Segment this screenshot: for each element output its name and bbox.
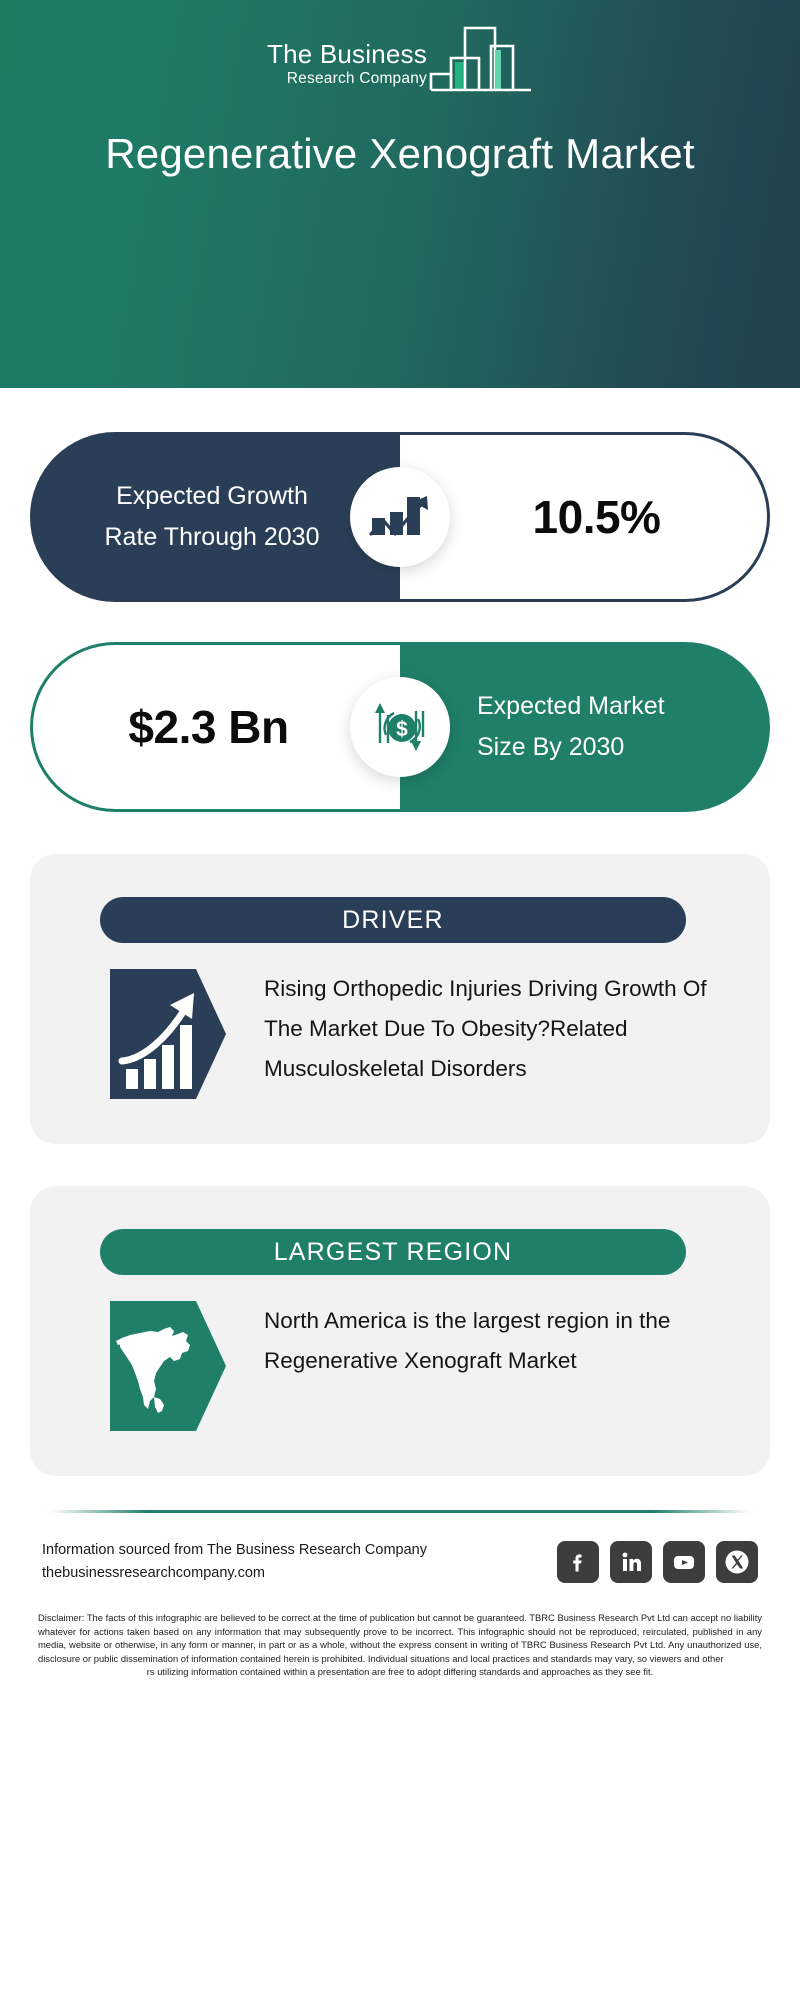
stat-card-label-side: Expected Market Size By 2030 [400, 642, 770, 812]
largest-region-pill-label: LARGEST REGION [274, 1238, 513, 1267]
disclaimer-body: Disclaimer: The facts of this infographi… [38, 1612, 762, 1664]
stat-card-market-size: $2.3 Bn Expected Market Size By 2030 $ [30, 642, 770, 812]
stat-value-market-size: $2.3 Bn [114, 699, 304, 755]
stat-value-growth-rate: 10.5% [533, 490, 661, 544]
x-twitter-icon[interactable] [716, 1541, 758, 1583]
social-links [557, 1541, 758, 1583]
disclaimer-text: Disclaimer: The facts of this infographi… [38, 1611, 762, 1679]
driver-pill: DRIVER [100, 897, 686, 943]
largest-region-text: North America is the largest region in t… [264, 1301, 720, 1381]
stat-label-growth-rate: Expected Growth Rate Through 2030 [87, 476, 337, 558]
dollar-cycle-icon: $ [350, 677, 450, 777]
footer-divider [50, 1510, 750, 1513]
linkedin-icon[interactable] [610, 1541, 652, 1583]
source-line-2[interactable]: thebusinessresearchcompany.com [42, 1562, 427, 1585]
source-info: Information sourced from The Business Re… [42, 1539, 427, 1585]
source-line-1: Information sourced from The Business Re… [42, 1539, 427, 1562]
driver-text: Rising Orthopedic Injuries Driving Growt… [264, 969, 720, 1089]
driver-pill-label: DRIVER [342, 906, 444, 935]
facebook-icon[interactable] [557, 1541, 599, 1583]
stat-label-market-size: Expected Market Size By 2030 [477, 686, 717, 768]
company-logo: The Business Research Company [267, 22, 533, 94]
page-title: Regenerative Xenograft Market [90, 128, 710, 180]
footer-row: Information sourced from The Business Re… [30, 1539, 770, 1585]
stat-card-value-side: 10.5% [400, 432, 770, 602]
driver-panel: DRIVER Rising Orthopedic Injuries Drivin… [30, 854, 770, 1144]
youtube-icon[interactable] [663, 1541, 705, 1583]
disclaimer-last-line: rs utilizing information contained withi… [38, 1665, 762, 1679]
stat-card-growth-rate: Expected Growth Rate Through 2030 10.5% [30, 432, 770, 602]
logo-wordmark: The Business Research Company [267, 40, 427, 94]
stat-card-value-side: $2.3 Bn [30, 642, 400, 812]
hero-banner: The Business Research Company Regenerati… [0, 0, 800, 388]
logo-line-1: The Business [267, 40, 427, 69]
bar-growth-arrow-icon [110, 969, 226, 1099]
stat-card-label-side: Expected Growth Rate Through 2030 [30, 432, 400, 602]
stat-cards: Expected Growth Rate Through 2030 10.5% … [0, 432, 800, 812]
logo-line-2: Research Company [287, 69, 427, 88]
driver-body: Rising Orthopedic Injuries Driving Growt… [110, 969, 720, 1099]
svg-text:$: $ [396, 718, 408, 741]
north-america-map-icon [110, 1301, 226, 1431]
logo-bar-chart-icon [429, 22, 533, 94]
largest-region-body: North America is the largest region in t… [110, 1301, 720, 1431]
largest-region-panel: LARGEST REGION North America is the larg… [30, 1186, 770, 1476]
growth-chart-arrow-icon [350, 467, 450, 567]
largest-region-pill: LARGEST REGION [100, 1229, 686, 1275]
